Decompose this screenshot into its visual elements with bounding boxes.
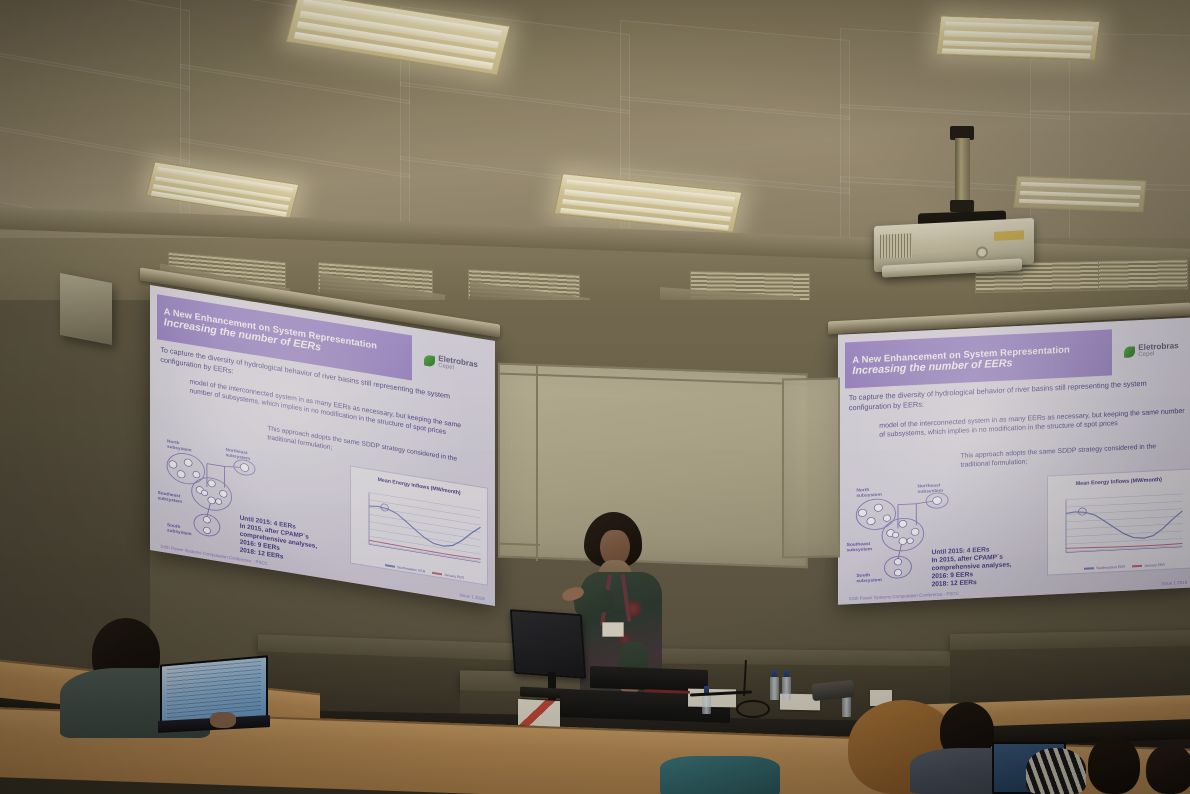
legend-item: January EER <box>1132 563 1165 569</box>
left-projection-screen[interactable]: A New Enhancement on System Representati… <box>150 285 495 606</box>
legend-item: Southeastern EER <box>1084 565 1125 571</box>
chart-plot-area <box>1066 494 1182 553</box>
water-bottle <box>782 670 791 700</box>
slide-paragraph-2: model of the interconnected system in as… <box>879 407 1187 441</box>
eletrobras-cepel-logo: Eletrobras Cepel <box>1110 326 1190 376</box>
right-projection-screen[interactable]: A New Enhancement on System Representati… <box>838 317 1190 605</box>
chart-legend: Southeastern EER January EER <box>1065 562 1184 572</box>
audience-bag <box>660 756 780 794</box>
slide-left: A New Enhancement on System Representati… <box>150 285 495 606</box>
water-bottle <box>770 670 779 700</box>
presenter-badge <box>602 622 624 637</box>
chart-legend: Southeastern EER January EER <box>367 560 481 583</box>
coiled-cable <box>736 700 770 718</box>
printed-sheet <box>518 699 560 727</box>
ceiling-light-fixture <box>1013 176 1146 212</box>
slide-page-number: Issue 1 2018 <box>1161 580 1187 586</box>
wall-speaker <box>60 273 112 345</box>
audience-hand <box>210 712 236 728</box>
leaf-icon <box>1124 346 1135 358</box>
mean-energy-inflows-chart: Mean Energy Inflows (MW/month) <box>350 466 488 586</box>
whiteboard-divider <box>500 543 540 546</box>
legend-item: January EER <box>432 570 464 579</box>
chart-title: Mean Energy Inflows (MW/month) <box>1048 475 1190 488</box>
lectern-monitor[interactable] <box>510 609 586 679</box>
legend-item: Southeastern EER <box>385 563 425 573</box>
ceiling-light-fixture <box>936 15 1101 60</box>
svg-text:subsystem: subsystem <box>167 444 191 453</box>
leaf-icon <box>424 354 435 367</box>
chart-plot-area <box>369 493 481 563</box>
slide-page-number: Issue 1 2018 <box>460 593 485 602</box>
lecture-hall-scene: A New Enhancement on System Representati… <box>0 0 1190 794</box>
svg-text:subsystem: subsystem <box>846 546 872 552</box>
slide-right: A New Enhancement on System Representati… <box>838 317 1190 605</box>
slide-body: To capture the diversity of hydrological… <box>849 377 1187 476</box>
projector-lens <box>976 246 988 259</box>
eer-count-list: Until 2015: 4 EERs In 2015, after CPAMP`… <box>932 544 1033 589</box>
projector-pole <box>955 138 970 204</box>
audience-member-far-right-head <box>1088 736 1140 794</box>
projector-label <box>994 230 1024 241</box>
svg-text:subsystem: subsystem <box>167 527 191 536</box>
eletrobras-cepel-logo: Eletrobras Cepel <box>410 335 489 393</box>
mean-energy-inflows-chart: Mean Energy Inflows (MW/month) <box>1047 469 1190 576</box>
audience-member-striped-hat <box>1026 748 1086 794</box>
air-vent <box>1098 259 1188 291</box>
water-bottle <box>702 686 711 714</box>
projector-vent <box>880 233 912 259</box>
svg-text:subsystem: subsystem <box>856 491 882 497</box>
slide-paragraph-3: This approach adopts the same SDDP strat… <box>960 442 1187 471</box>
projector-mount-collar <box>950 200 974 212</box>
logo-secondary-text: Cepel <box>1138 350 1179 358</box>
slide-title-bar: A New Enhancement on System Representati… <box>845 330 1111 389</box>
whiteboard-side-panel <box>782 377 840 558</box>
audience-member-far-right-head-2 <box>1146 744 1190 794</box>
whiteboard-divider <box>500 373 810 386</box>
svg-text:subsystem: subsystem <box>856 577 882 583</box>
whiteboard-divider <box>536 366 538 561</box>
